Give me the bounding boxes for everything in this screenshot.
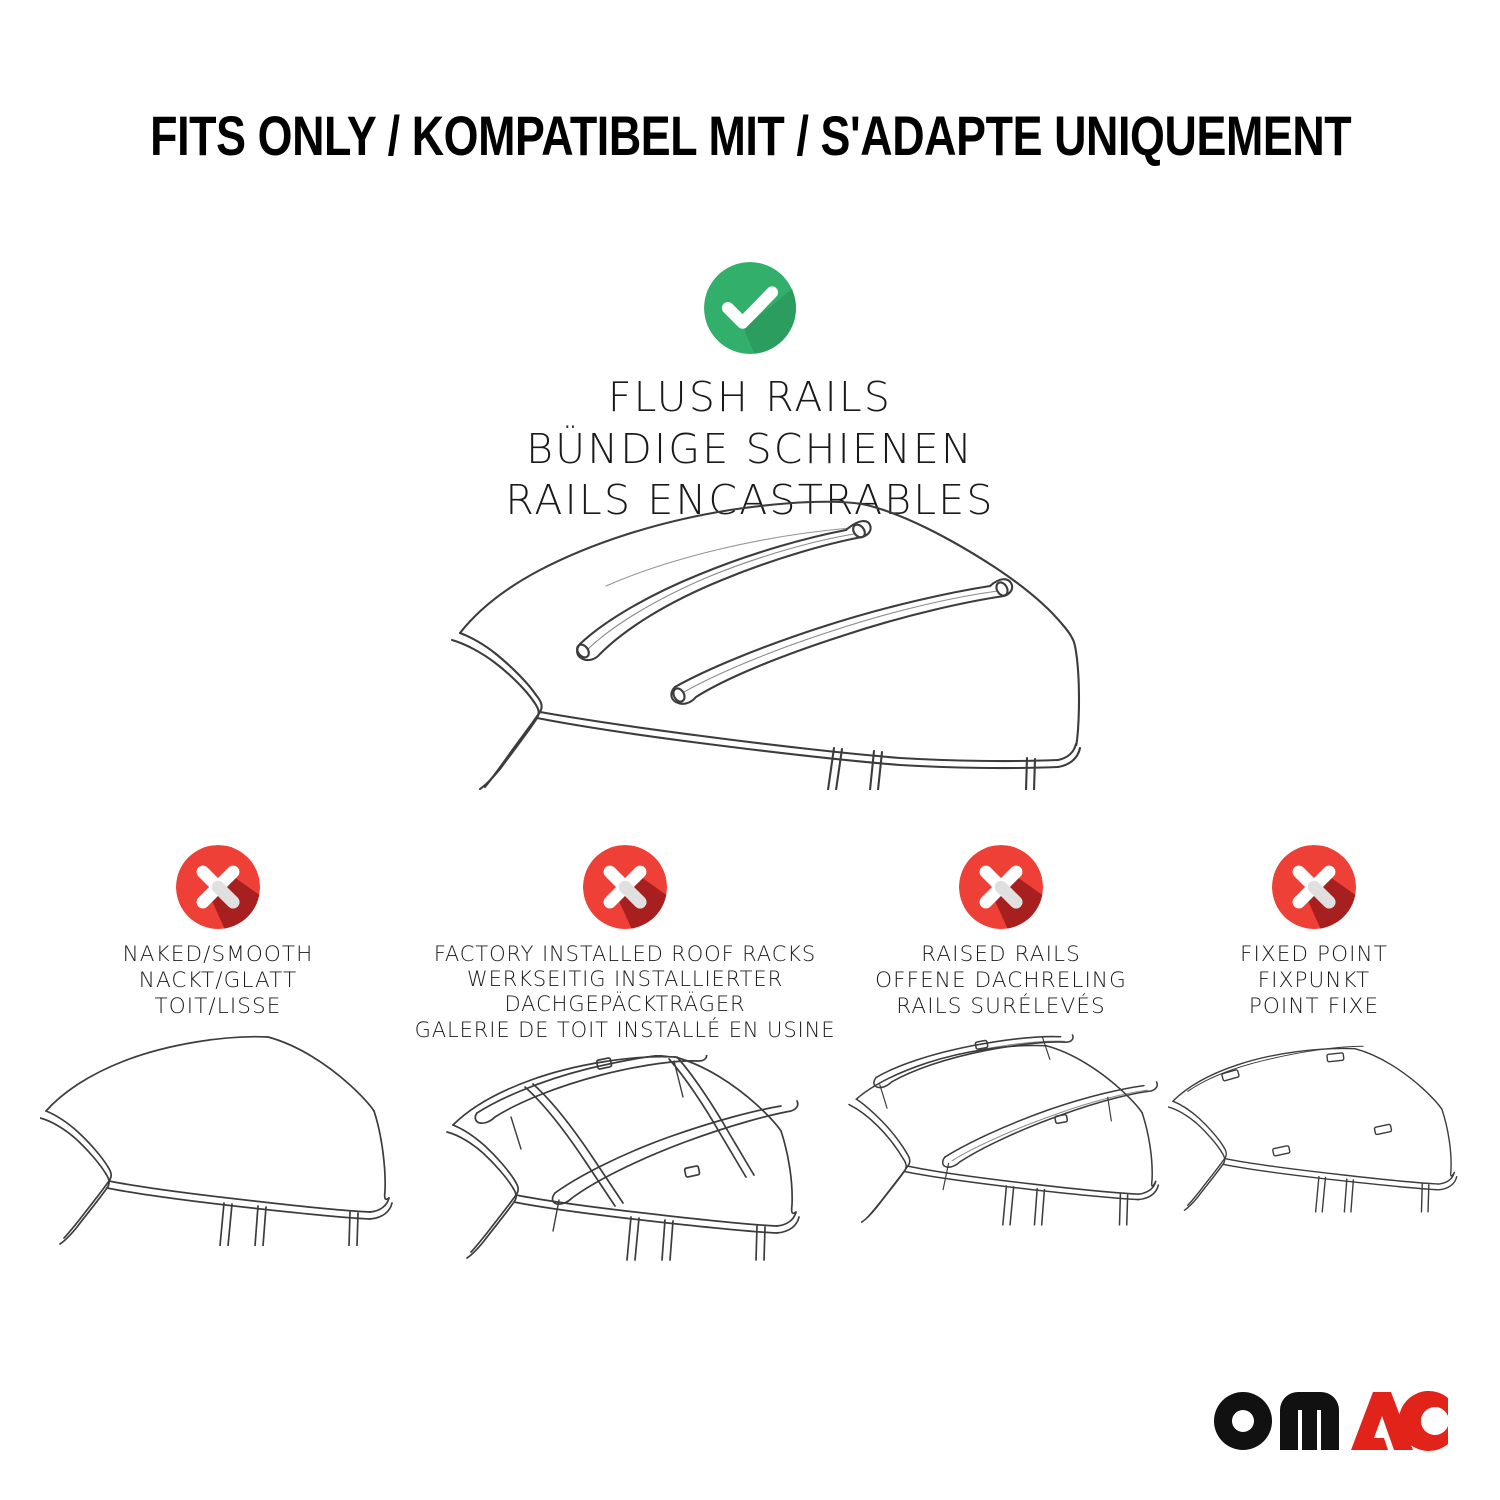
- label-en: NAKED/SMOOTH: [40, 942, 396, 968]
- label-de-1: WERKSEITIG INSTALLIERTER: [400, 967, 850, 992]
- page-title-bar: FITS ONLY / KOMPATIBEL MIT / S'ADAPTE UN…: [0, 103, 1500, 168]
- not-compatible-item-naked-smooth: NAKED/SMOOTH NACKT/GLATT TOIT/LISSE: [40, 845, 396, 1246]
- car-roof-raised-rails-illustration: [840, 1031, 1162, 1246]
- label-de: OFFENE DACHRELING: [840, 968, 1162, 994]
- label-fr: RAILS SURÉLEVÉS: [840, 994, 1162, 1020]
- label-de: NACKT/GLATT: [40, 968, 396, 994]
- label-group: NAKED/SMOOTH NACKT/GLATT TOIT/LISSE: [40, 942, 396, 1019]
- not-compatible-item-fixed-point: FIXED POINT FIXPUNKT POINT FIXE: [1168, 845, 1460, 1246]
- omac-logo: [1210, 1388, 1448, 1454]
- page-title: FITS ONLY / KOMPATIBEL MIT / S'ADAPTE UN…: [150, 103, 1351, 168]
- label-en: RAISED RAILS: [840, 942, 1162, 968]
- car-roof-with-flush-rails-illustration: [430, 490, 1090, 790]
- fits-section: FLUSH RAILS BÜNDIGE SCHIENEN RAILS ENCAS…: [0, 262, 1500, 527]
- red-cross-circle-icon: [176, 845, 260, 929]
- label-en: FACTORY INSTALLED ROOF RACKS: [400, 942, 850, 967]
- red-cross-circle-icon: [959, 845, 1043, 929]
- not-compatible-item-factory-roof-racks: FACTORY INSTALLED ROOF RACKS WERKSEITIG …: [400, 845, 850, 1270]
- label-group: FACTORY INSTALLED ROOF RACKS WERKSEITIG …: [400, 942, 850, 1043]
- fits-label-en: FLUSH RAILS: [0, 372, 1500, 424]
- label-group: RAISED RAILS OFFENE DACHRELING RAILS SUR…: [840, 942, 1162, 1019]
- logo-letter-m: [1280, 1392, 1339, 1450]
- label-fr: TOIT/LISSE: [40, 994, 396, 1020]
- car-roof-fixed-point-illustration: [1168, 1031, 1460, 1246]
- car-roof-factory-installed-roof-racks-illustration: [400, 1055, 850, 1270]
- not-compatible-section: NAKED/SMOOTH NACKT/GLATT TOIT/LISSE: [0, 845, 1500, 1315]
- green-check-circle-icon: [704, 262, 796, 354]
- logo-letter-o: [1214, 1392, 1272, 1450]
- label-de-2: DACHGEPÄCKTRÄGER: [400, 992, 850, 1017]
- fits-label-de: BÜNDIGE SCHIENEN: [0, 424, 1500, 476]
- label-de: FIXPUNKT: [1168, 968, 1460, 994]
- label-fr: POINT FIXE: [1168, 994, 1460, 1020]
- label-fr: GALERIE DE TOIT INSTALLÉ EN USINE: [400, 1018, 850, 1043]
- red-cross-circle-icon: [1272, 845, 1356, 929]
- not-compatible-item-raised-rails: RAISED RAILS OFFENE DACHRELING RAILS SUR…: [840, 845, 1162, 1246]
- red-cross-circle-icon: [583, 845, 667, 929]
- label-group: FIXED POINT FIXPUNKT POINT FIXE: [1168, 942, 1460, 1019]
- car-roof-naked-smooth-illustration: [40, 1031, 396, 1246]
- label-en: FIXED POINT: [1168, 942, 1460, 968]
